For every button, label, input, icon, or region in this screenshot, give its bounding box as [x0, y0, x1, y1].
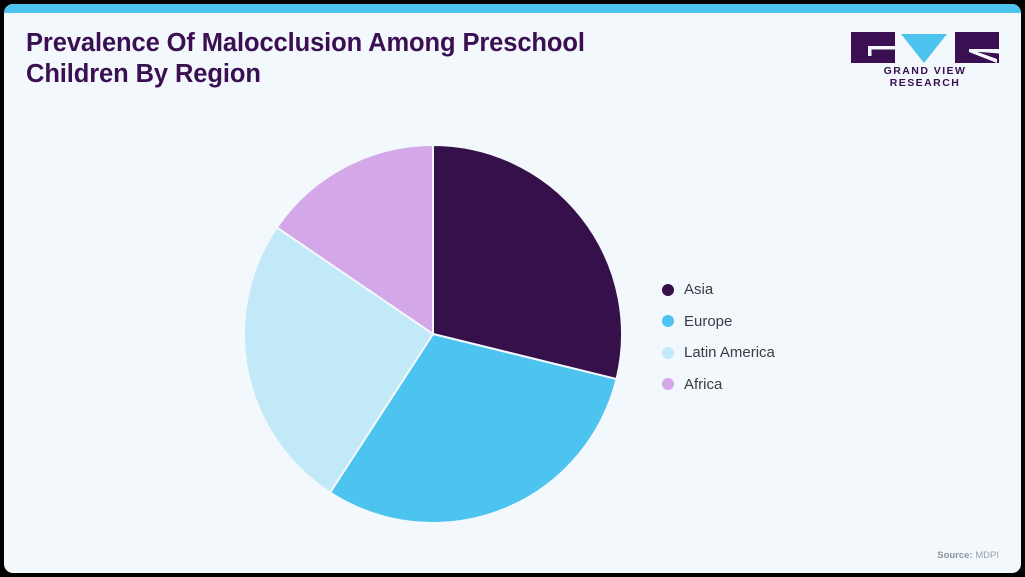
legend-label-asia: Asia [684, 281, 713, 298]
legend-label-africa: Africa [684, 376, 722, 393]
gvr-logo-icon [851, 32, 999, 63]
legend-item-europe[interactable]: Europe [662, 306, 902, 338]
source-value: MDPI [975, 550, 999, 561]
legend-swatch-asia [662, 284, 674, 296]
pie-chart-svg [240, 141, 626, 527]
chart-card: Prevalence Of Malocclusion Among Prescho… [4, 4, 1021, 573]
pie-slices [244, 145, 622, 523]
legend-swatch-africa [662, 378, 674, 390]
brand-logo: GRAND VIEW RESEARCH [851, 32, 999, 80]
legend-label-latin-america: Latin America [684, 344, 775, 361]
page-title: Prevalence Of Malocclusion Among Prescho… [26, 28, 666, 90]
top-accent-bar [4, 4, 1021, 13]
chart-legend: Asia Europe Latin America Africa [662, 274, 902, 400]
screenshot-canvas: Prevalence Of Malocclusion Among Prescho… [0, 0, 1025, 577]
legend-item-africa[interactable]: Africa [662, 369, 902, 401]
logo-wordmark: GRAND VIEW RESEARCH [851, 65, 999, 89]
legend-label-europe: Europe [684, 313, 732, 330]
legend-item-latin-america[interactable]: Latin America [662, 337, 902, 369]
legend-item-asia[interactable]: Asia [662, 274, 902, 306]
source-label: Source: [937, 550, 972, 561]
source-note: Source: MDPI [937, 550, 999, 561]
pie-chart [240, 141, 626, 527]
legend-swatch-europe [662, 315, 674, 327]
legend-swatch-latin-america [662, 347, 674, 359]
logo-marks [851, 32, 999, 63]
